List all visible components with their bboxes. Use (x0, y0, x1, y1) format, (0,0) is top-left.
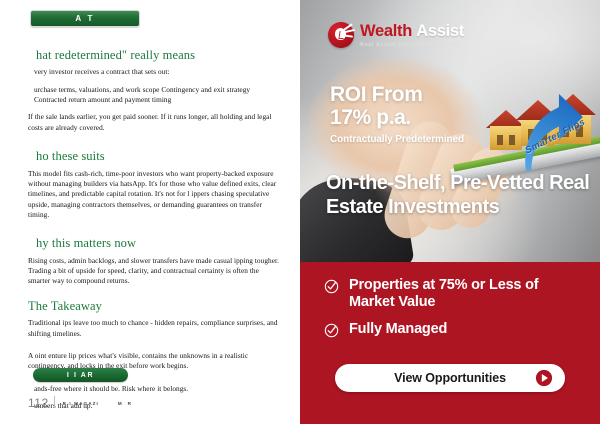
section-heading-4: The Takeaway (28, 299, 280, 313)
spacer (28, 140, 280, 149)
brand-logo[interactable]: Wealth Assist Real Estate Investment Adv… (328, 22, 464, 48)
roi-callout: ROI From 17% p.a. Contractually Predeter… (328, 80, 472, 153)
paragraph-4-3: ands-free where it should be. Risk where… (28, 384, 280, 394)
logo-word-two: Assist (416, 22, 464, 40)
benefit-label: Fully Managed (349, 321, 447, 338)
page-number: 112 (28, 397, 49, 409)
roi-subtext: Contractually Predetermined (330, 134, 466, 146)
section-badge: A T (30, 10, 140, 27)
roi-headline: ROI From 17% p.a. (330, 84, 466, 129)
page-footer: 112 R I MAGAZI M R (28, 396, 132, 409)
cta-label: View Opportunities (394, 371, 506, 385)
logo-tagline: Real Estate Investment Advisors (360, 42, 464, 48)
advertisement-panel: Smarter Flips Wealth Assist Real Estate … (300, 0, 600, 424)
ad-offer-block: Properties at 75% or Less of Market Valu… (300, 262, 600, 424)
benefits-list: Properties at 75% or Less of Market Valu… (324, 277, 580, 347)
ad-photo-background: Smarter Flips Wealth Assist Real Estate … (300, 0, 600, 262)
ad-headline: On-the-Shelf, Pre-Vetted Real Estate Inv… (326, 171, 596, 220)
paragraph-1-1: very investor receives a contract that s… (28, 67, 280, 77)
logo-word-one: Wealth (360, 22, 412, 40)
spacer (28, 227, 280, 236)
check-circle-icon (324, 279, 339, 294)
paragraph-3-1: Rising costs, admin backlogs, and slower… (28, 256, 280, 287)
logo-wordmark: Wealth Assist Real Estate Investment Adv… (360, 22, 464, 48)
check-circle-icon (324, 323, 339, 338)
section-heading-3: hy this matters now (28, 236, 280, 250)
paragraph-1-2: urchase terms, valuations, and work scop… (28, 85, 280, 106)
view-opportunities-button[interactable]: View Opportunities (335, 364, 565, 392)
magazine-spread: A T hat redetermined" really means very … (0, 0, 600, 424)
section-heading-2: ho these suits (28, 149, 280, 163)
paragraph-2-1: This model fits cash-rich, time-poor inv… (28, 169, 280, 221)
lightbulb-icon (328, 22, 354, 48)
editorial-column: A T hat redetermined" really means very … (0, 0, 300, 424)
footer-divider (54, 396, 55, 408)
paragraph-1-3: If the sale lands earlier, you get paid … (28, 112, 280, 133)
list-item: Fully Managed (324, 321, 580, 338)
publication-name: R I MAGAZI M R (63, 402, 132, 409)
article-cta-button[interactable]: I I AR (33, 368, 128, 382)
paragraph-4-1: Traditional ips leave too much to chance… (28, 318, 280, 339)
benefit-label: Properties at 75% or Less of Market Valu… (349, 277, 580, 312)
section-heading-1: hat redetermined" really means (28, 48, 280, 62)
play-arrow-icon (535, 369, 553, 387)
list-item: Properties at 75% or Less of Market Valu… (324, 277, 580, 312)
article-body: hat redetermined" really means very inve… (28, 48, 280, 418)
